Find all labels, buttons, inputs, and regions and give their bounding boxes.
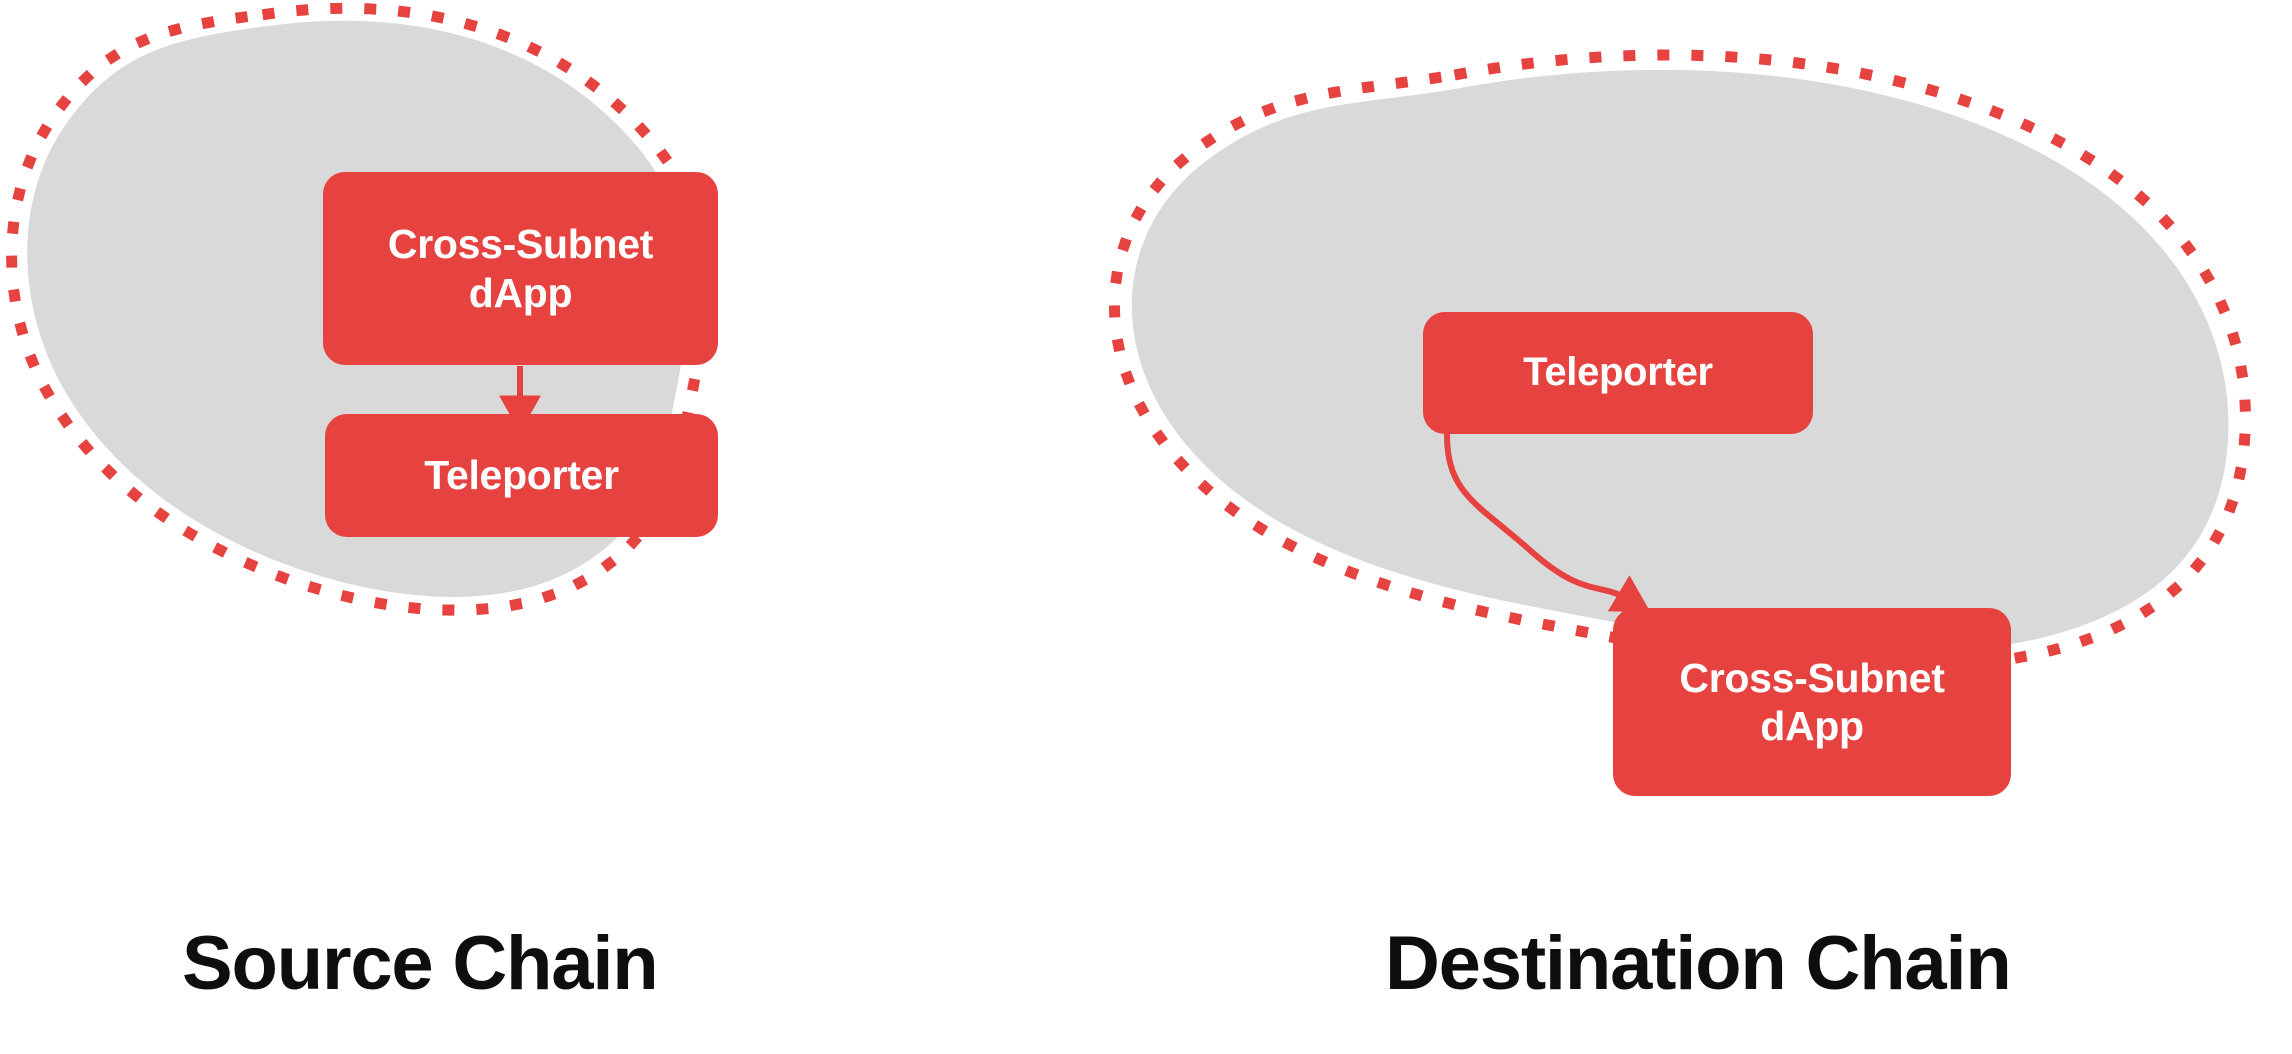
source-chain-label: Source Chain [182,920,657,1007]
destination-chain-label: Destination Chain [1385,920,2011,1007]
node-destination-teleporter[interactable]: Teleporter [1423,312,1813,434]
node-source-cross-subnet-dapp[interactable]: Cross-Subnet dApp [323,172,718,365]
node-source-teleporter[interactable]: Teleporter [325,414,718,537]
node-destination-cross-subnet-dapp[interactable]: Cross-Subnet dApp [1613,608,2011,796]
diagram-canvas: Cross-Subnet dApp Teleporter Teleporter … [0,0,2292,1054]
destination-chain-group: Teleporter Cross-Subnet dApp [840,0,2292,1054]
